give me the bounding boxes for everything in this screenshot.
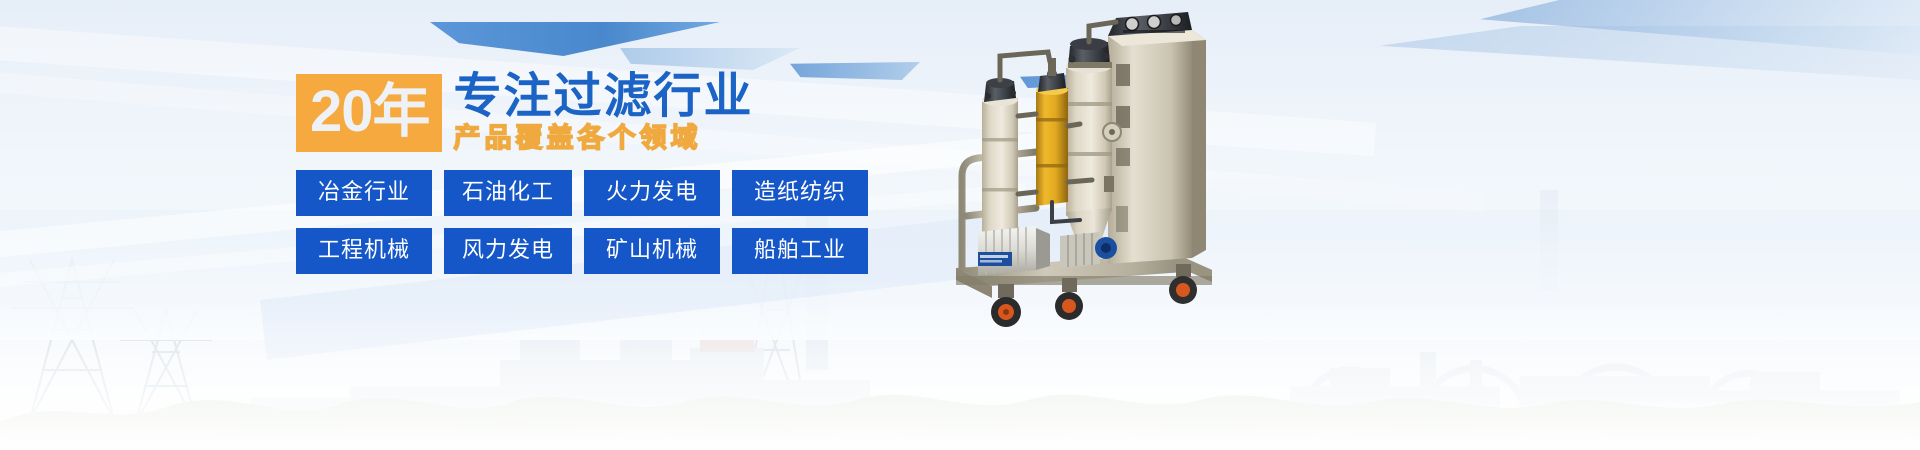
industry-tag-petrochemical[interactable]: 石油化工	[444, 170, 572, 216]
industry-tag-construction-machinery[interactable]: 工程机械	[296, 228, 432, 274]
industry-tag-thermal-power[interactable]: 火力发电	[584, 170, 720, 216]
industry-tag-mining-machinery[interactable]: 矿山机械	[584, 228, 720, 274]
industry-tag-group: 冶金行业 石油化工 火力发电 造纸纺织 工程机械 风力发电 矿山机械 船舶工业	[296, 170, 868, 274]
industry-tag-shipbuilding[interactable]: 船舶工业	[732, 228, 868, 274]
hero-banner: 20年 专注过滤行业 产品覆盖各个领域 冶金行业 石油化工 火力发电 造纸纺织 …	[0, 0, 1920, 450]
industry-tag-row-2: 工程机械 风力发电 矿山机械 船舶工业	[296, 228, 868, 274]
industry-tag-metallurgy[interactable]: 冶金行业	[296, 170, 432, 216]
industry-tag-paper-textile[interactable]: 造纸纺织	[732, 170, 868, 216]
industry-tag-wind-power[interactable]: 风力发电	[444, 228, 572, 274]
headline-main-title: 专注过滤行业	[454, 72, 754, 122]
industry-tag-row-1: 冶金行业 石油化工 火力发电 造纸纺织	[296, 170, 868, 216]
headline-sub-title: 产品覆盖各个领域	[454, 124, 754, 154]
headline-block: 20年 专注过滤行业 产品覆盖各个领域	[296, 74, 754, 154]
product-image-filtration-cart	[940, 6, 1260, 350]
years-badge: 20年	[296, 74, 442, 152]
headline-text-group: 专注过滤行业 产品覆盖各个领域	[454, 72, 754, 154]
